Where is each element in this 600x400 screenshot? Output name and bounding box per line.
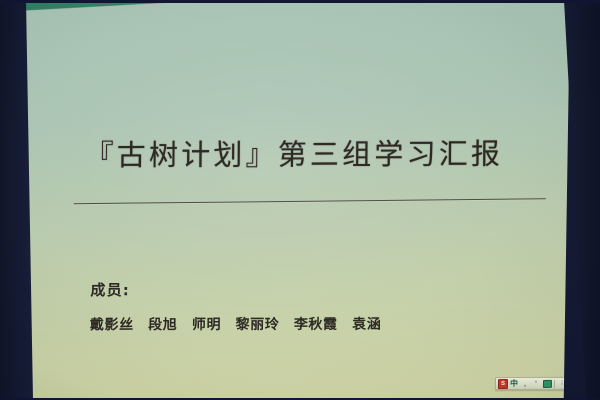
page-title: 『古树计划』第三组学习汇报 <box>84 140 554 171</box>
chinese-mode-icon[interactable]: 中 <box>509 379 519 389</box>
list-item: 李秋霞 <box>294 317 338 333</box>
list-item: 段旭 <box>148 317 177 333</box>
members-list: 戴影丝 段旭 师明 黎丽玲 李秋霞 袁涵 <box>90 314 382 335</box>
soft-keyboard-icon[interactable] <box>542 378 552 388</box>
members-label: 成员: <box>90 279 130 300</box>
title-underline-divider <box>74 198 546 204</box>
halfwidth-icon[interactable]: ° <box>531 378 541 388</box>
projector-photo: 『古树计划』第三组学习汇报 成员: 戴影丝 段旭 师明 黎丽玲 李秋霞 袁涵 S… <box>0 0 600 400</box>
toolbar-divider <box>554 379 555 387</box>
status-icon[interactable]: ⁞ <box>557 378 567 388</box>
ime-logo-icon[interactable]: S <box>498 379 508 389</box>
punctuation-icon[interactable]: , <box>520 378 530 388</box>
list-item: 师明 <box>192 317 221 333</box>
projected-slide: 『古树计划』第三组学习汇报 成员: 戴影丝 段旭 师明 黎丽玲 李秋霞 袁涵 S… <box>19 0 570 400</box>
list-item: 袁涵 <box>352 317 381 333</box>
toolbox-icon[interactable]: ⛉ <box>568 378 570 388</box>
list-item: 戴影丝 <box>90 317 134 333</box>
projected-slide-wrapper: 『古树计划』第三组学习汇报 成员: 戴影丝 段旭 师明 黎丽玲 李秋霞 袁涵 S… <box>19 0 570 400</box>
ime-language-bar[interactable]: S 中 , ° ⁞ ⛉ ✎ <box>495 377 570 390</box>
slide-content: 『古树计划』第三组学习汇报 成员: 戴影丝 段旭 师明 黎丽玲 李秋霞 袁涵 <box>19 0 570 400</box>
photo-frame-top <box>0 0 600 3</box>
list-item: 黎丽玲 <box>236 317 280 333</box>
soft-keyboard-glyph <box>542 379 551 387</box>
